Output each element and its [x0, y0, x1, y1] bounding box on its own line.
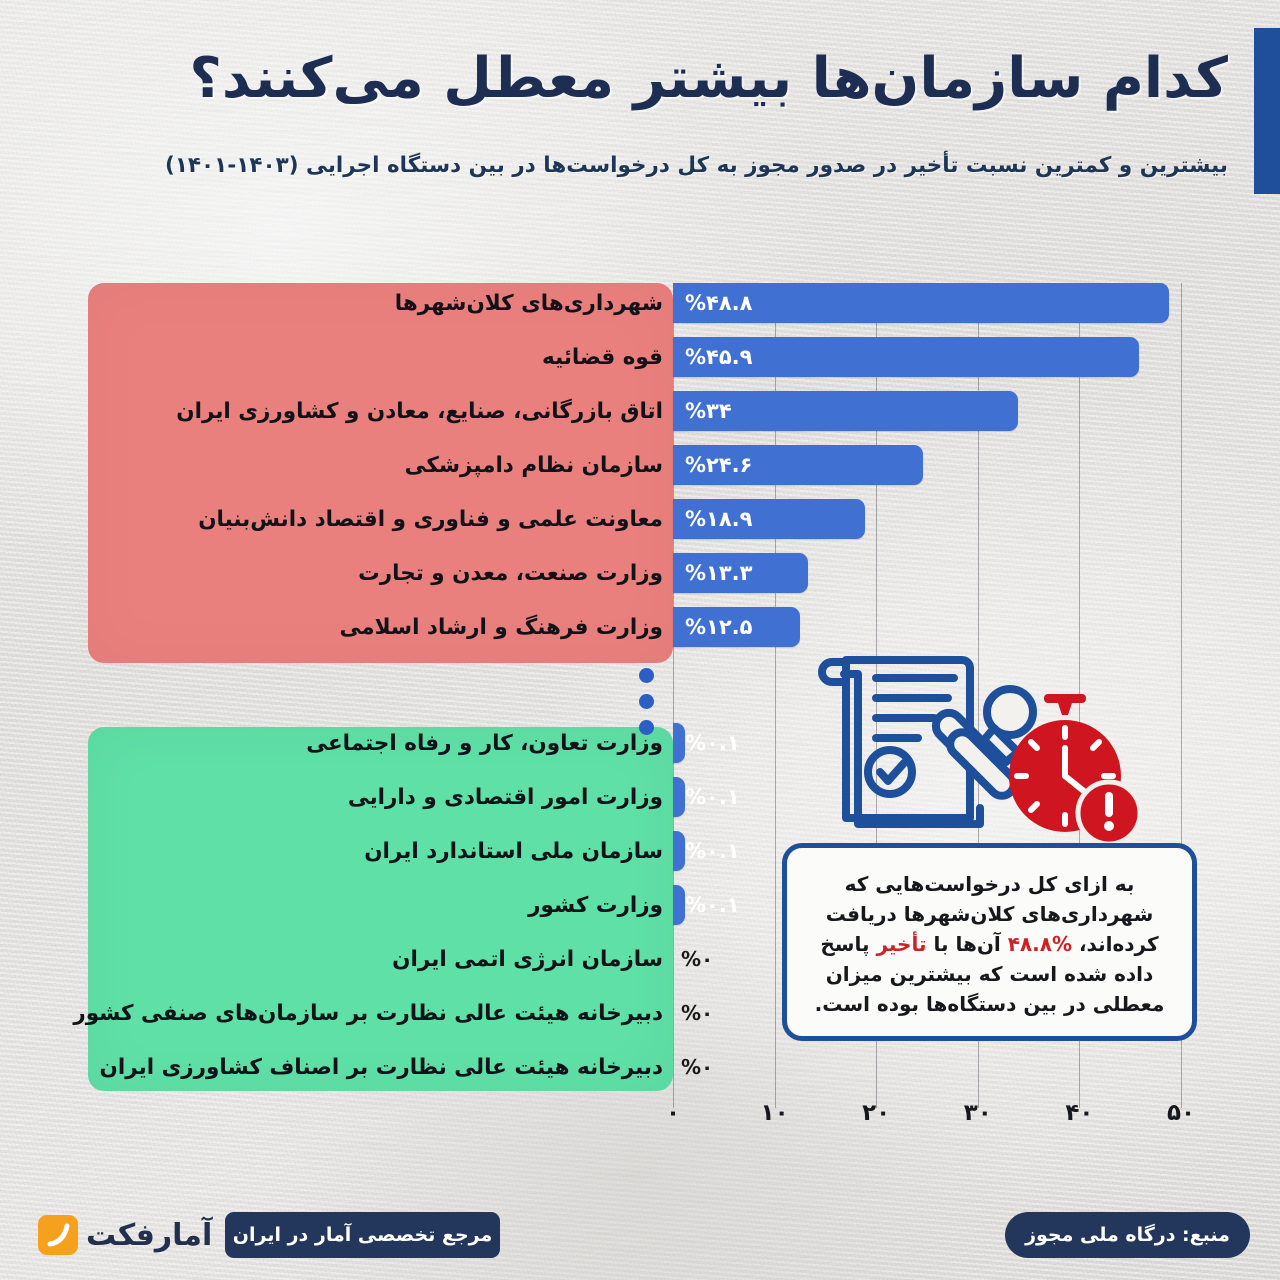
row-label: وزارت صنعت، معدن و تجارت: [358, 553, 663, 593]
row-label: اتاق بازرگانی، صنایع، معادن و کشاورزی ای…: [176, 391, 663, 431]
footer-source-badge: منبع: درگاه ملی مجوز: [1005, 1212, 1250, 1258]
axis-tick-label: ۲۰: [862, 1100, 890, 1126]
header-accent-bar: [1254, 28, 1280, 194]
row-label: دبیرخانه هیئت عالی نظارت بر اصناف کشاورز…: [100, 1047, 663, 1087]
brand-logo[interactable]: آمارفکت: [38, 1210, 212, 1260]
row-label: وزارت امور اقتصادی و دارایی: [348, 777, 663, 817]
callout-part2: آن‌ها با: [927, 932, 1008, 956]
row-label: وزارت کشور: [528, 885, 663, 925]
bar-value-label: %۴۸.۸: [685, 291, 752, 315]
row-label: شهرداری‌های کلان‌شهرها: [395, 283, 663, 323]
bar-value-label: %۱۲.۵: [685, 615, 752, 639]
bar[interactable]: %۰.۱: [673, 777, 685, 817]
callout-highlight-word: تأخیر: [876, 932, 926, 956]
logo-text: آمارفکت: [86, 1218, 212, 1253]
axis-tick-label: ۵۰: [1167, 1100, 1195, 1126]
callout-box: به ازای کل درخواست‌هایی که شهرداری‌های ک…: [782, 843, 1197, 1041]
axis-tick-label: ۱۰: [761, 1100, 789, 1126]
bar[interactable]: %۴۸.۸: [673, 283, 1169, 323]
axis-tick-label: ۴۰: [1065, 1100, 1093, 1126]
permit-delay-illustration: [806, 640, 1196, 845]
bar-value-label: %۰: [681, 993, 713, 1033]
footer-tagline: مرجع تخصصی آمار در ایران: [225, 1212, 500, 1258]
axis-tick-label: ۰: [666, 1100, 680, 1126]
bar[interactable]: %۴۵.۹: [673, 337, 1139, 377]
bar[interactable]: %۱۸.۹: [673, 499, 865, 539]
bar[interactable]: %۳۴: [673, 391, 1018, 431]
row-label: دبیرخانه هیئت عالی نظارت بر سازمان‌های ص…: [73, 993, 663, 1033]
bar[interactable]: %۰.۱: [673, 831, 685, 871]
bar-value-label: %۲۴.۶: [685, 453, 752, 477]
row-label: معاونت علمی و فناوری و اقتصاد دانش‌بنیان: [198, 499, 663, 539]
callout-highlight-value: %۴۸.۸: [1008, 932, 1072, 956]
page-subtitle: بیشترین و کمترین نسبت تأخیر در صدور مجوز…: [55, 150, 1228, 181]
bar-value-label: %۱۳.۳: [685, 561, 752, 585]
bar-value-label: %۰.۱: [685, 731, 740, 755]
row-label: سازمان انرژی اتمی ایران: [392, 939, 663, 979]
logo-swoosh-icon: [38, 1215, 78, 1255]
bar-value-label: %۰.۱: [685, 839, 740, 863]
bar-value-label: %۰.۱: [685, 893, 740, 917]
row-label: قوه قضائیه: [542, 337, 663, 377]
row-label: سازمان ملی استاندارد ایران: [364, 831, 663, 871]
bar-value-label: %۳۴: [685, 399, 732, 423]
row-label: وزارت تعاون، کار و رفاه اجتماعی: [306, 723, 663, 763]
axis-tick-label: ۳۰: [964, 1100, 992, 1126]
callout-text: به ازای کل درخواست‌هایی که شهرداری‌های ک…: [807, 869, 1172, 1019]
bar[interactable]: %۰.۱: [673, 885, 685, 925]
bar-value-label: %۰.۱: [685, 785, 740, 809]
bar[interactable]: %۲۴.۶: [673, 445, 923, 485]
row-label: وزارت فرهنگ و ارشاد اسلامی: [340, 607, 663, 647]
bar[interactable]: %۰.۱: [673, 723, 685, 763]
bar-value-label: %۰: [681, 939, 713, 979]
bar[interactable]: %۱۳.۳: [673, 553, 808, 593]
page-title: کدام سازمان‌ها بیشتر معطل می‌کنند؟: [60, 44, 1228, 114]
bar-value-label: %۰: [681, 1047, 713, 1087]
row-label: سازمان نظام دامپزشکی: [405, 445, 663, 485]
bar[interactable]: %۱۲.۵: [673, 607, 800, 647]
bar-value-label: %۱۸.۹: [685, 507, 752, 531]
bar-value-label: %۴۵.۹: [685, 345, 752, 369]
